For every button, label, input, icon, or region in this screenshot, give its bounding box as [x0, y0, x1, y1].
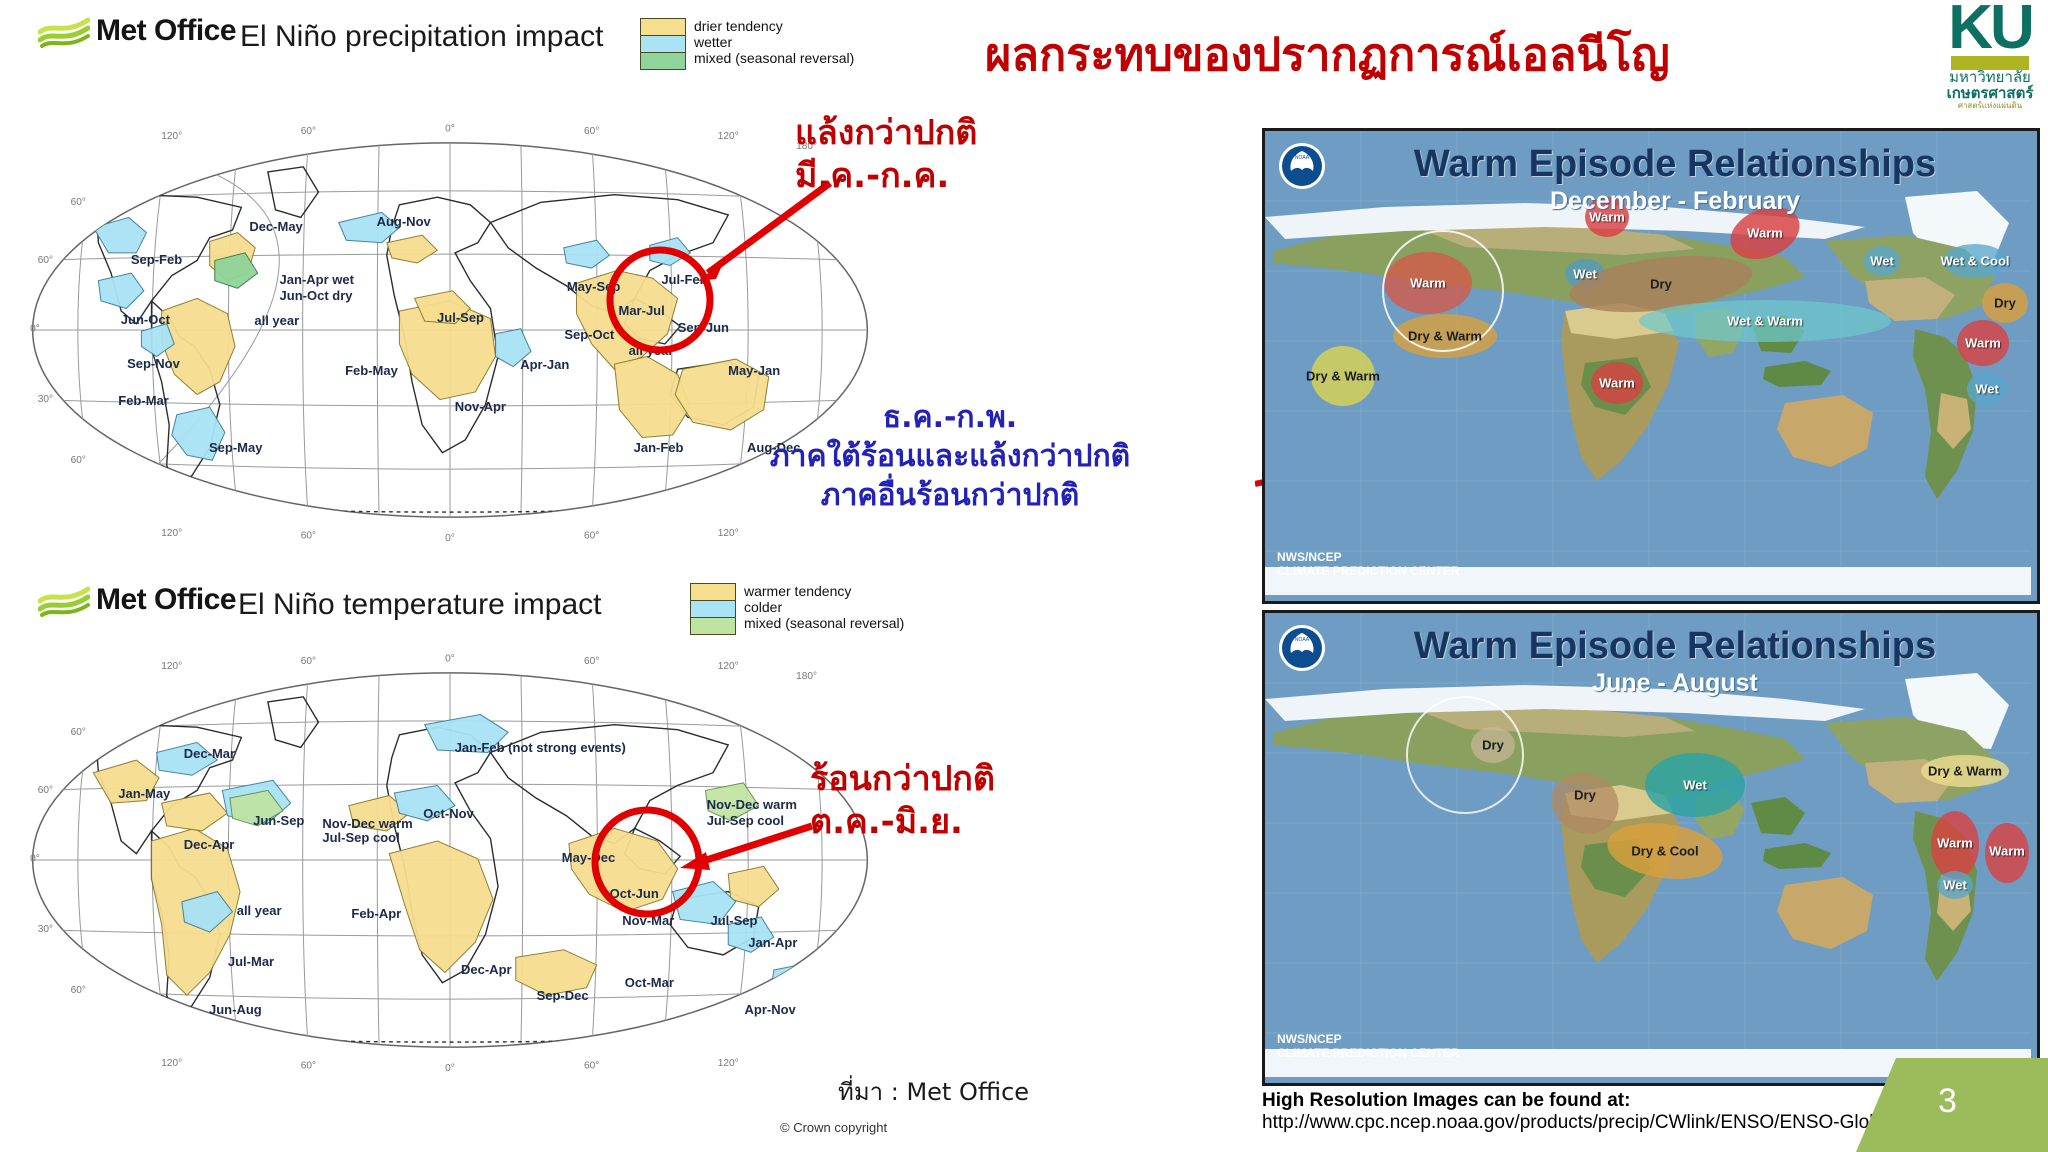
noaa-region-label: Warm — [1599, 376, 1635, 391]
map-region-label: all year — [254, 313, 299, 328]
noaa-region-label: Wet — [1573, 267, 1597, 282]
map-region-label: Dec-Apr — [184, 837, 235, 852]
ku-letters: KU — [1948, 4, 2032, 52]
noaa-region-label: Warm — [1589, 210, 1625, 225]
page-number: 3 — [1938, 1082, 1957, 1121]
map-region-label: Jun-Sep — [253, 813, 304, 828]
met-office-wordmark: Met Office — [96, 14, 236, 48]
page-title: ผลกระทบของปรากฏการณ์เอลนีโญ — [985, 18, 1670, 90]
temp-legend-swatch-0 — [691, 584, 735, 601]
precip-legend-swatch-1 — [641, 36, 685, 53]
ku-thai-line2: เกษตรศาสตร์ — [1947, 86, 2034, 102]
source-note: ที่มา : Met Office — [838, 1072, 1029, 1111]
map-region-label: Apr-Nov — [745, 1002, 796, 1017]
map-region-label: Jan-Apr wet — [280, 272, 354, 287]
map-region-label: Jun-Oct — [121, 312, 170, 327]
noaa-blob-labels-2: DryDryWetDry & CoolDry & WarmWarmWarmWet — [1265, 613, 2031, 1077]
noaa-region-label: Warm — [1937, 836, 1973, 851]
map-region-label: Jul-Mar — [228, 954, 274, 969]
precip-legend-swatch-0 — [641, 19, 685, 36]
temp-legend-swatches — [690, 583, 736, 635]
warm-dry-annotation: ธ.ค.-ก.พ. ภาคใต้ร้อนและแล้งกว่าปกติ ภาคอ… — [630, 398, 1270, 515]
map-region-label: Nov-Dec warm — [322, 816, 412, 831]
map-region-label: Jul-Sep cool — [322, 830, 399, 845]
map-region-label: Jun-Oct dry — [280, 288, 353, 303]
map-region-label: Oct-Nov — [423, 806, 474, 821]
met-office-wordmark-temp: Met Office — [96, 583, 236, 617]
precip-legend-swatches — [640, 18, 686, 70]
precip-legend: drier tendency wetter mixed (seasonal re… — [640, 18, 854, 70]
map-region-label: Jul-Sep — [710, 913, 757, 928]
map-region-label: Jan-Apr — [748, 935, 797, 950]
map-region-label: Dec-Apr — [461, 962, 512, 977]
noaa-panel-jun-aug: NOAA Warm Episode Relationships June - A… — [1262, 610, 2040, 1086]
noaa-region-label: Warm — [1989, 844, 2025, 859]
warmer-annotation-arrow — [672, 818, 817, 873]
noaa-region-label: Wet & Cool — [1940, 254, 2009, 269]
temp-legend-label-1: colder — [744, 599, 904, 615]
temp-legend-labels: warmer tendency colder mixed (seasonal r… — [744, 583, 904, 631]
noaa-region-label: Wet & Warm — [1727, 314, 1803, 329]
map-region-label: Nov-Dec warm — [707, 797, 797, 812]
noaa-region-label: Dry — [1574, 788, 1596, 803]
noaa-region-label: Dry — [1994, 296, 2016, 311]
map-region-label: Nov-Apr — [455, 399, 506, 414]
map-region-label: Feb-Apr — [351, 906, 401, 921]
map-region-label: Sep-Dec — [537, 988, 589, 1003]
warmer-annotation-line1: ร้อนกว่าปกติ — [810, 758, 995, 801]
noaa-region-label: Wet — [1683, 778, 1707, 793]
map-region-label: Aug-Nov — [377, 214, 431, 229]
temp-legend: warmer tendency colder mixed (seasonal r… — [690, 583, 904, 635]
drier-annotation-line2: มี.ค.-ก.ค. — [795, 155, 977, 198]
noaa-region-label: Dry & Warm — [1408, 329, 1482, 344]
map-region-label: May-Jan — [728, 363, 780, 378]
map-region-label: Apr-Jan — [520, 357, 569, 372]
precip-legend-labels: drier tendency wetter mixed (seasonal re… — [694, 18, 854, 66]
map-region-label: Oct-Mar — [625, 975, 674, 990]
drier-annotation: แล้งกว่าปกติ มี.ค.-ก.ค. — [795, 112, 977, 197]
noaa-region-label: Wet — [1975, 382, 1999, 397]
temp-legend-label-2: mixed (seasonal reversal) — [744, 615, 904, 631]
noaa-region-label: Warm — [1965, 336, 2001, 351]
map-region-label: Jan-Feb (not strong events) — [455, 740, 626, 755]
noaa-region-label: Wet — [1943, 878, 1967, 893]
map-region-label: all year — [237, 903, 282, 918]
ku-thai-line3: ศาสตร์แห่งแผ่นดิน — [1958, 102, 2022, 111]
map-region-label: Sep-May — [209, 440, 262, 455]
met-office-logo-precip: Met Office — [38, 14, 236, 48]
precip-panel-heading: El Niño precipitation impact — [240, 20, 604, 54]
noaa-region-label: Dry & Cool — [1631, 844, 1698, 859]
map-region-label: Jun-Aug — [209, 1002, 262, 1017]
map-region-label: Feb-May — [345, 363, 398, 378]
map-region-label: Sep-Feb — [131, 252, 182, 267]
map-region-label: Sep-Nov — [127, 356, 180, 371]
warmer-annotation-line2: ต.ค.-มิ.ย. — [810, 801, 995, 844]
noaa-region-label: Dry & Warm — [1928, 764, 2002, 779]
noaa-region-label: Dry — [1482, 738, 1504, 753]
map-region-label: Feb-Mar — [118, 393, 169, 408]
noaa-region-label: Wet — [1870, 254, 1894, 269]
map-region-label: Dec-Mar — [184, 746, 235, 761]
footer-link[interactable]: http://www.cpc.ncep.noaa.gov/products/pr… — [1262, 1112, 1922, 1134]
temp-panel-heading: El Niño temperature impact — [238, 588, 602, 622]
noaa-blob-labels-1: WarmWarmWetWarmDryWetWet & CoolDry & War… — [1265, 131, 2031, 595]
met-office-wave-icon-temp — [38, 583, 90, 617]
temp-legend-swatch-1 — [691, 601, 735, 618]
warmer-annotation: ร้อนกว่าปกติ ต.ค.-มิ.ย. — [810, 758, 995, 843]
met-office-wave-icon — [38, 14, 90, 48]
precip-legend-label-1: wetter — [694, 34, 854, 50]
noaa-region-label: Dry & Warm — [1306, 369, 1380, 384]
noaa-panel-dec-feb: NOAA Warm Episode Relationships December… — [1262, 128, 2040, 604]
warm-dry-annotation-line1: ธ.ค.-ก.พ. — [630, 398, 1270, 437]
warm-dry-annotation-line3: ภาคอื่นร้อนกว่าปกติ — [630, 476, 1270, 515]
map-region-label: Jul-Sep — [437, 310, 484, 325]
ku-logo: KU มหาวิทยาลัย เกษตรศาสตร์ ศาสตร์แห่งแผ่… — [1930, 4, 2048, 111]
noaa-region-label: Warm — [1747, 226, 1783, 241]
noaa-region-label: Dry — [1650, 277, 1672, 292]
met-office-logo-temp: Met Office — [38, 583, 236, 617]
map-region-label: Dec-May — [249, 219, 302, 234]
precip-legend-label-0: drier tendency — [694, 18, 854, 34]
temp-legend-label-0: warmer tendency — [744, 583, 904, 599]
crown-copyright: © Crown copyright — [780, 1120, 887, 1135]
precip-legend-label-2: mixed (seasonal reversal) — [694, 50, 854, 66]
precip-legend-swatch-2 — [641, 53, 685, 69]
warm-dry-annotation-line2: ภาคใต้ร้อนและแล้งกว่าปกติ — [630, 437, 1270, 476]
footer-line1: High Resolution Images can be found at: — [1262, 1090, 1922, 1112]
noaa-region-label: Warm — [1410, 276, 1446, 291]
drier-annotation-line1: แล้งกว่าปกติ — [795, 112, 977, 155]
footer-url-block: High Resolution Images can be found at: … — [1262, 1090, 1922, 1134]
temp-legend-swatch-2 — [691, 618, 735, 634]
map-region-label: Jan-May — [118, 786, 170, 801]
